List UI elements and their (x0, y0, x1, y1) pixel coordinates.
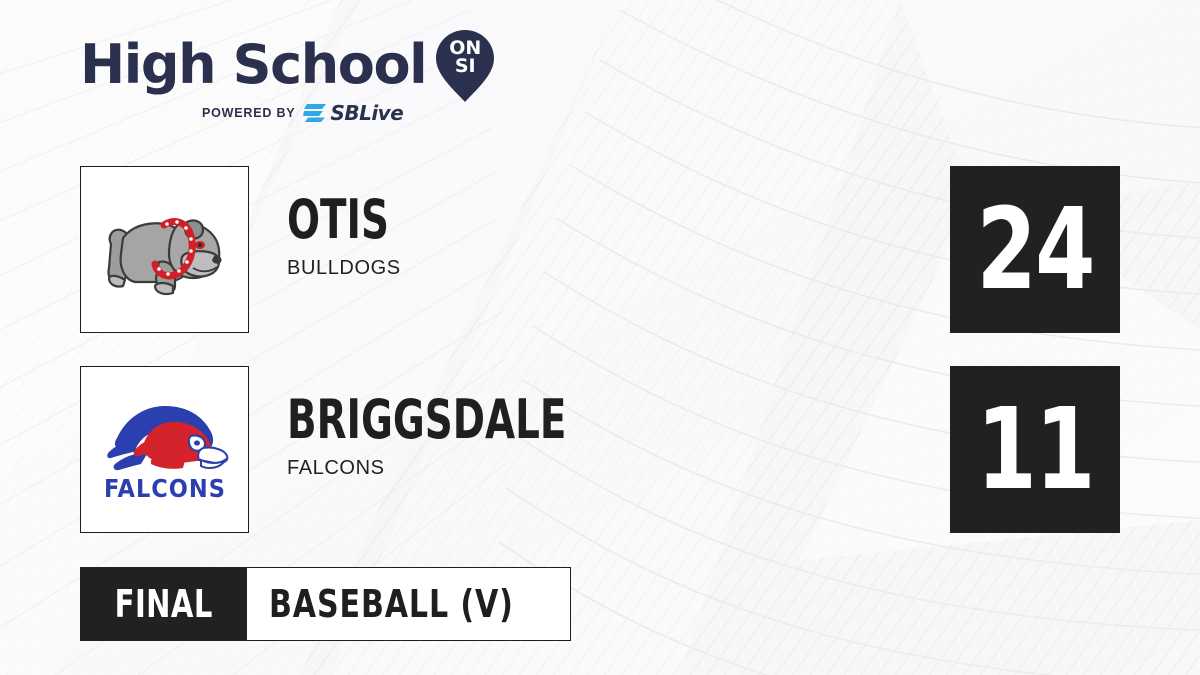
page-title: High School (80, 36, 426, 94)
brand-title-row: High School ON SI (80, 34, 510, 96)
team-info: OTIS BULLDOGS (287, 192, 907, 280)
falcon-mascot-logo-icon: FALCONS (99, 394, 231, 506)
team-score-box: 11 (950, 366, 1120, 533)
status-badge-label: FINAL (115, 585, 213, 623)
sblive-wordmark: SBLive (330, 103, 403, 123)
sport-label-box: BASEBALL (V) (247, 567, 570, 641)
powered-by-row: POWERED BY SBLive (80, 103, 510, 123)
sport-label: BASEBALL (V) (269, 585, 514, 623)
team-logo-box (80, 166, 249, 333)
team-name: BRIGGSDALE (287, 392, 783, 448)
sblive-logo: SBLive (303, 103, 403, 123)
team-logo-box: FALCONS (80, 366, 249, 533)
game-status-bar: FINAL BASEBALL (V) (80, 567, 571, 641)
status-badge: FINAL (80, 567, 247, 641)
team-score: 11 (976, 394, 1093, 506)
bulldog-mascot-logo-icon (101, 194, 229, 306)
team-info: BRIGGSDALE FALCONS (287, 392, 907, 480)
badge-line-si: SI (436, 57, 494, 75)
team-name: OTIS (287, 192, 783, 248)
brand-logo: High School ON SI POWERED BY SBLive (80, 34, 510, 134)
sblive-bolt-icon (303, 103, 327, 123)
team-mascot: BULLDOGS (287, 257, 907, 280)
team-score: 24 (976, 194, 1093, 306)
powered-by-label: POWERED BY (202, 106, 295, 120)
team-mascot: FALCONS (287, 457, 907, 480)
badge-text: ON SI (436, 39, 494, 75)
map-pin-badge-icon: ON SI (436, 30, 494, 102)
team-score-box: 24 (950, 166, 1120, 333)
scoreboard-graphic: High School ON SI POWERED BY SBLive (0, 0, 1200, 675)
falcon-wordmark: FALCONS (104, 474, 226, 503)
